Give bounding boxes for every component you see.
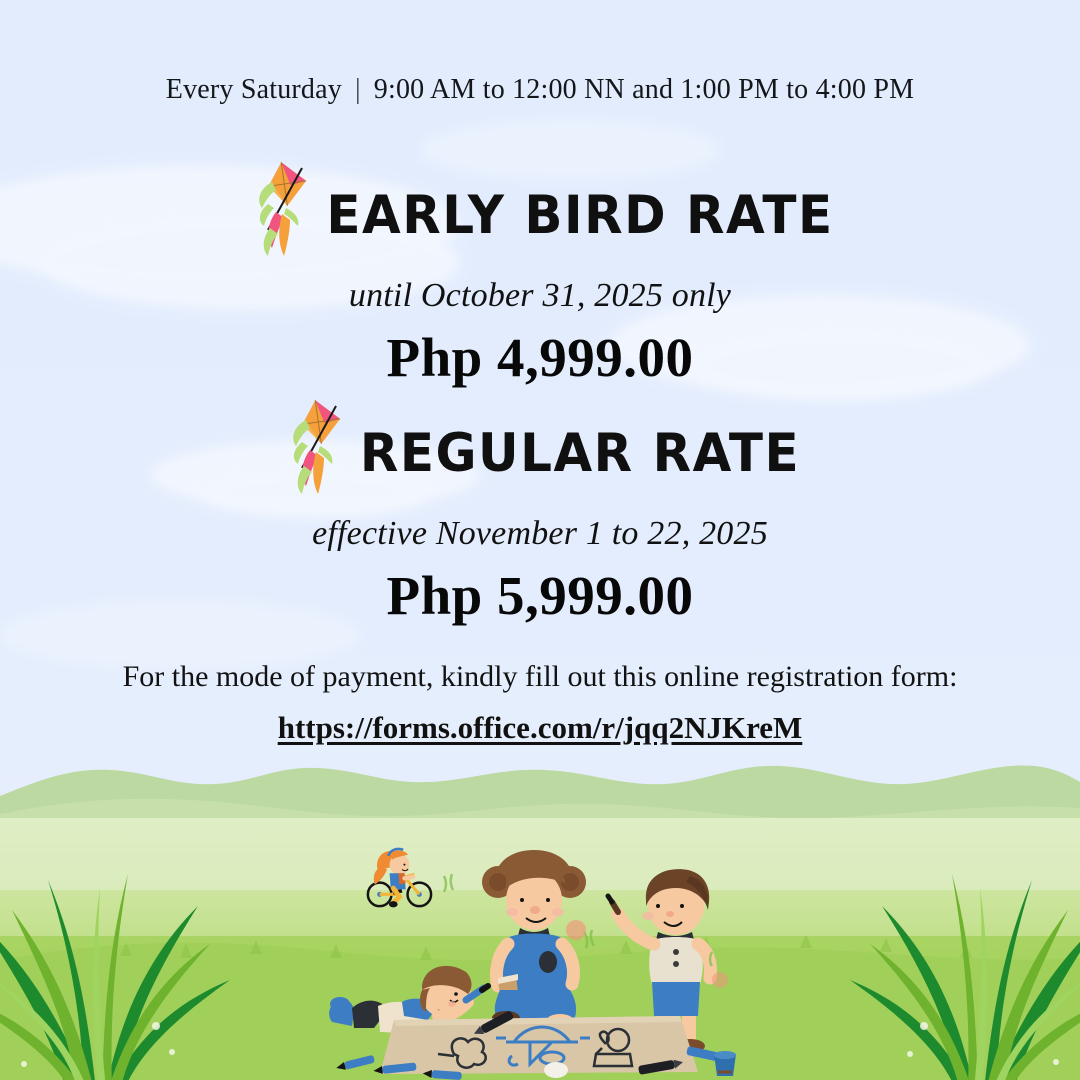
- payment-section: For the mode of payment, kindly fill out…: [0, 660, 1080, 746]
- schedule-separator: |: [342, 74, 374, 106]
- rate-subtitle: effective November 1 to 22, 2025: [0, 515, 1080, 553]
- eraser-icon: [544, 1062, 568, 1078]
- schedule-times: 9:00 AM to 12:00 NN and 1:00 PM to 4:00 …: [374, 74, 914, 105]
- rate-subtitle: until October 31, 2025 only: [0, 277, 1080, 315]
- ball-icon: [712, 972, 728, 988]
- girl-on-bicycle-icon: [368, 849, 431, 907]
- rate-block-regular: REGULAR RATE effective November 1 to 22,…: [0, 400, 1080, 627]
- paint-cup-icon: [714, 1051, 736, 1076]
- kite-icon: [246, 156, 324, 268]
- schedule-day: Every Saturday: [166, 74, 342, 105]
- kite-icon: [280, 394, 358, 506]
- schedule-line: Every Saturday|9:00 AM to 12:00 NN and 1…: [0, 74, 1080, 106]
- rate-title: EARLY BIRD RATE: [326, 189, 833, 242]
- ball-icon: [566, 920, 586, 940]
- grass-tuft-right-icon: [840, 840, 1080, 1080]
- children-illustration: [0, 740, 1080, 1080]
- payment-instruction: For the mode of payment, kindly fill out…: [0, 660, 1080, 694]
- rate-heading: REGULAR RATE: [0, 400, 1080, 506]
- grass-tuft-left-icon: [0, 840, 240, 1080]
- rate-price: Php 4,999.00: [0, 326, 1080, 389]
- poster-text-content: Every Saturday|9:00 AM to 12:00 NN and 1…: [0, 0, 1080, 790]
- kids-group-illustration: [320, 840, 750, 1080]
- rate-price: Php 5,999.00: [0, 564, 1080, 627]
- poster-canvas: Every Saturday|9:00 AM to 12:00 NN and 1…: [0, 0, 1080, 1080]
- rate-block-early-bird: EARLY BIRD RATE until October 31, 2025 o…: [0, 162, 1080, 389]
- rate-heading: EARLY BIRD RATE: [0, 162, 1080, 268]
- rate-title: REGULAR RATE: [360, 427, 800, 480]
